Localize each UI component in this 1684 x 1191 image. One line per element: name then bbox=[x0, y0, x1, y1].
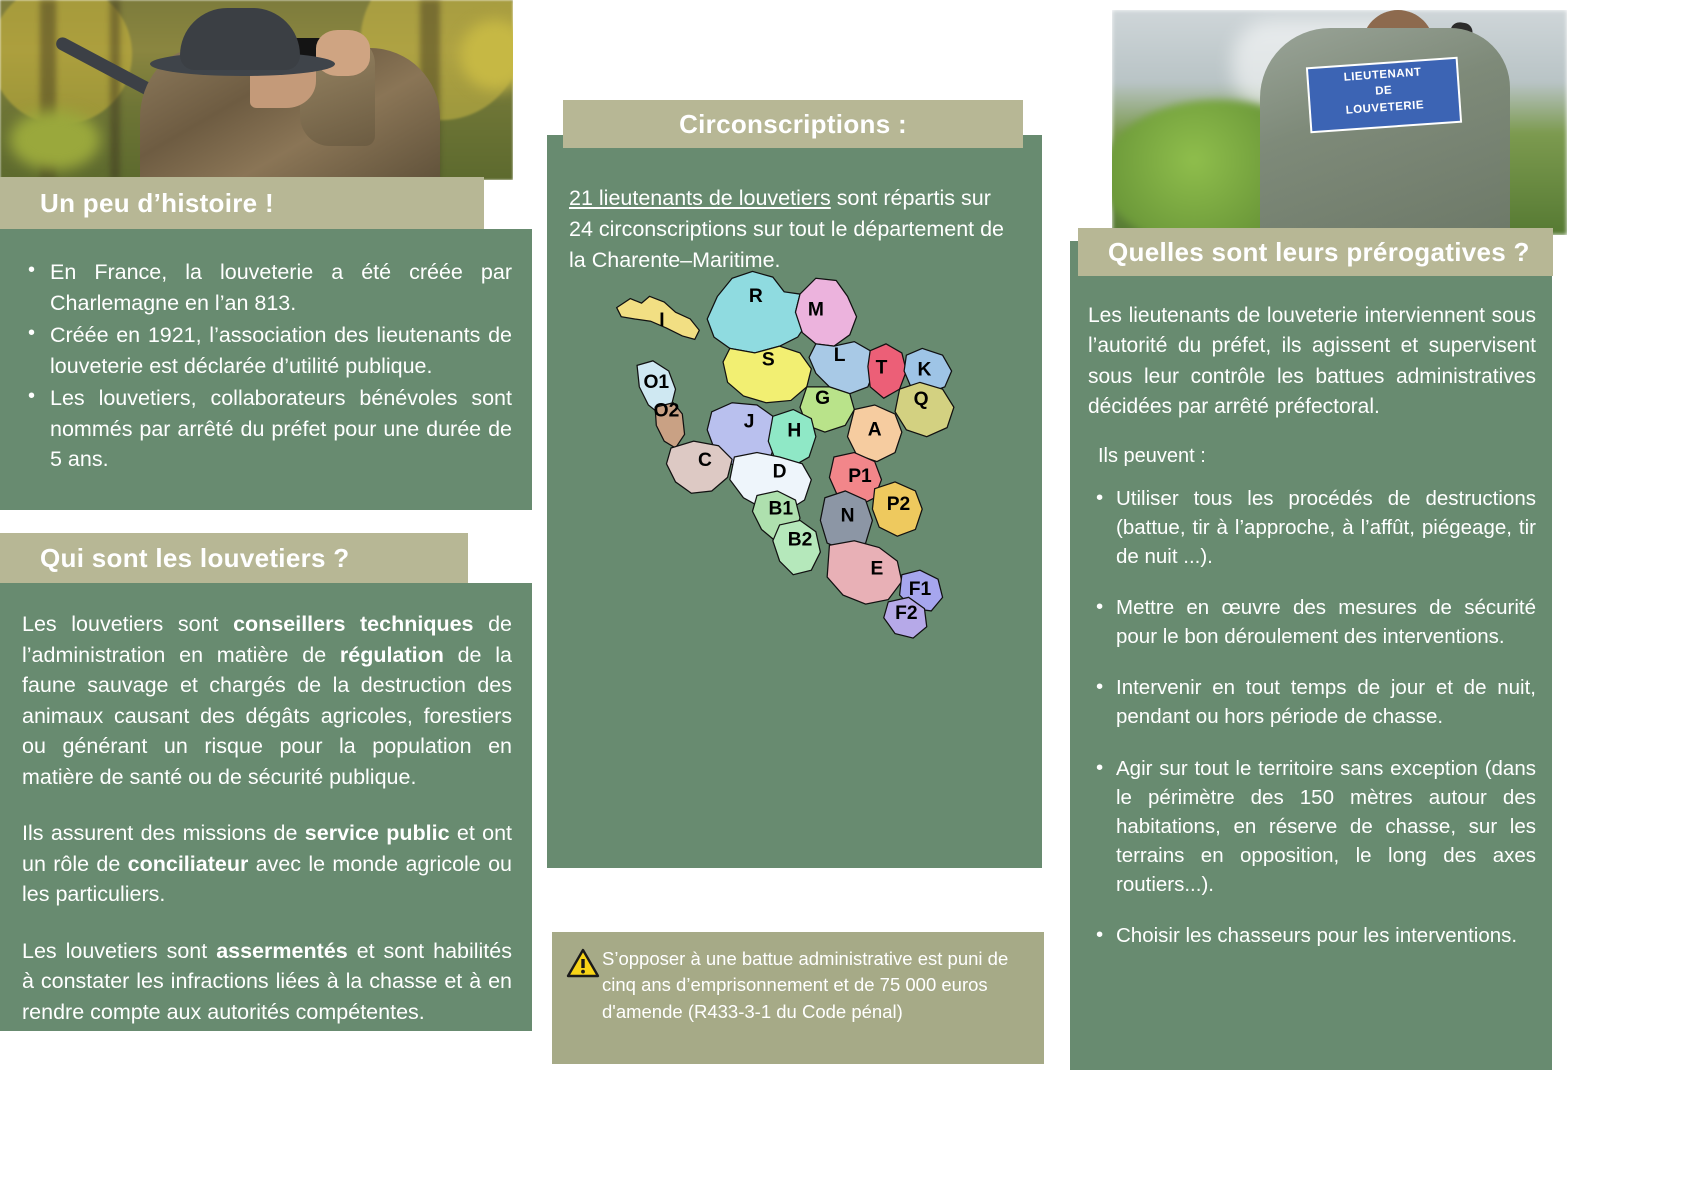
who-paragraph-2: Ils assurent des missions de service pub… bbox=[22, 818, 512, 910]
map-label-N: N bbox=[841, 506, 855, 527]
map-label-K: K bbox=[918, 360, 932, 381]
list-item: Choisir les chasseurs pour les intervent… bbox=[1116, 921, 1536, 950]
text-run-bold: conciliateur bbox=[128, 852, 249, 876]
map-region-E bbox=[827, 541, 902, 604]
map-region-M bbox=[795, 278, 856, 346]
warning-box: S’opposer à une battue administrative es… bbox=[552, 932, 1044, 1064]
map-region-R bbox=[707, 271, 807, 352]
map-region-I bbox=[617, 296, 700, 339]
prerogatives-section-header: Quelles sont leurs prérogatives ? bbox=[1078, 228, 1553, 276]
list-item: Agir sur tout le territoire sans excepti… bbox=[1116, 754, 1536, 900]
map-label-F2: F2 bbox=[895, 603, 917, 624]
prerogatives-intro: Les lieutenants de louveterie intervienn… bbox=[1088, 301, 1536, 423]
who-paragraph-3: Les louvetiers sont assermentés et sont … bbox=[22, 936, 512, 1028]
warning-triangle-icon bbox=[566, 948, 600, 978]
map-label-T: T bbox=[876, 357, 888, 378]
circonscriptions-section-header: Circonscriptions : bbox=[563, 100, 1023, 148]
map-label-Q: Q bbox=[914, 389, 929, 410]
map-label-P1: P1 bbox=[848, 466, 872, 487]
map-label-R: R bbox=[749, 286, 763, 307]
uniform-jacket bbox=[1260, 28, 1510, 235]
history-header-label: Un peu d’histoire ! bbox=[40, 188, 274, 219]
badge-text: LIEUTENANTDELOUVETERIE bbox=[1308, 59, 1460, 131]
map-label-M: M bbox=[808, 300, 824, 321]
list-item: Les louvetiers, collaborateurs bénévoles… bbox=[50, 383, 512, 475]
who-section-header: Qui sont les louvetiers ? bbox=[0, 533, 468, 583]
warning-row: S’opposer à une battue administrative es… bbox=[566, 946, 1028, 1025]
list-item: Créée en 1921, l’association des lieuten… bbox=[50, 320, 512, 381]
foliage bbox=[10, 110, 100, 170]
history-bullet-list: En France, la louveterie a été créée par… bbox=[24, 257, 512, 475]
charente-maritime-map[interactable]: IRMSLTKO1O2GQJHACDP1B1NP2B2EF1F2 bbox=[585, 190, 1015, 715]
map-label-O1: O1 bbox=[643, 372, 669, 393]
text-run: Les louvetiers sont bbox=[22, 612, 233, 636]
prerogatives-subtitle: Ils peuvent : bbox=[1098, 445, 1536, 468]
map-svg: IRMSLTKO1O2GQJHACDP1B1NP2B2EF1F2 bbox=[585, 190, 1015, 715]
map-label-J: J bbox=[744, 412, 755, 433]
map-label-P2: P2 bbox=[887, 494, 911, 515]
map-label-B2: B2 bbox=[788, 529, 813, 550]
louveterie-badge: LIEUTENANTDELOUVETERIE bbox=[1306, 57, 1462, 133]
list-item: Intervenir en tout temps de jour et de n… bbox=[1116, 673, 1536, 731]
map-label-B1: B1 bbox=[768, 499, 793, 520]
map-label-C: C bbox=[698, 450, 712, 471]
map-regions bbox=[617, 271, 954, 638]
prerogatives-bullet-list: Utiliser tous les procédés de destructio… bbox=[1088, 484, 1536, 950]
prerogatives-header-label: Quelles sont leurs prérogatives ? bbox=[1108, 237, 1530, 268]
text-run: Les louvetiers sont bbox=[22, 939, 216, 963]
tree-trunk-icon bbox=[110, 0, 120, 180]
list-item: Mettre en œuvre des mesures de sécurité … bbox=[1116, 593, 1536, 651]
who-section-body: Les louvetiers sont conseillers techniqu… bbox=[0, 583, 532, 1031]
who-header-label: Qui sont les louvetiers ? bbox=[40, 543, 349, 574]
text-run-bold: service public bbox=[305, 821, 450, 845]
prerogatives-section-body: Les lieutenants de louveterie intervienn… bbox=[1070, 241, 1552, 1070]
hunter-photo bbox=[0, 0, 513, 180]
map-label-E: E bbox=[871, 559, 884, 580]
text-run-bold: régulation bbox=[340, 643, 444, 667]
lieutenant-photo: LIEUTENANTDELOUVETERIE bbox=[1112, 10, 1567, 235]
text-run-bold: assermentés bbox=[216, 939, 347, 963]
history-section-body: En France, la louveterie a été créée par… bbox=[0, 229, 532, 510]
map-label-D: D bbox=[773, 461, 787, 482]
map-label-L: L bbox=[834, 345, 846, 366]
history-section-header: Un peu d’histoire ! bbox=[0, 177, 484, 229]
map-label-H: H bbox=[787, 421, 801, 442]
circonscriptions-header-label: Circonscriptions : bbox=[679, 109, 907, 140]
list-item: En France, la louveterie a été créée par… bbox=[50, 257, 512, 318]
map-label-A: A bbox=[868, 420, 882, 441]
warning-text: S’opposer à une battue administrative es… bbox=[602, 946, 1028, 1025]
who-paragraph-1: Les louvetiers sont conseillers techniqu… bbox=[22, 609, 512, 792]
map-label-G: G bbox=[815, 388, 830, 409]
map-label-F1: F1 bbox=[909, 579, 932, 600]
map-label-I: I bbox=[659, 310, 664, 331]
text-run-bold: conseillers techniques bbox=[233, 612, 473, 636]
list-item: Utiliser tous les procédés de destructio… bbox=[1116, 484, 1536, 571]
bucket-hat-icon bbox=[180, 8, 300, 70]
text-run: Ils assurent des missions de bbox=[22, 821, 305, 845]
map-label-S: S bbox=[762, 349, 775, 370]
map-label-O2: O2 bbox=[654, 400, 680, 421]
